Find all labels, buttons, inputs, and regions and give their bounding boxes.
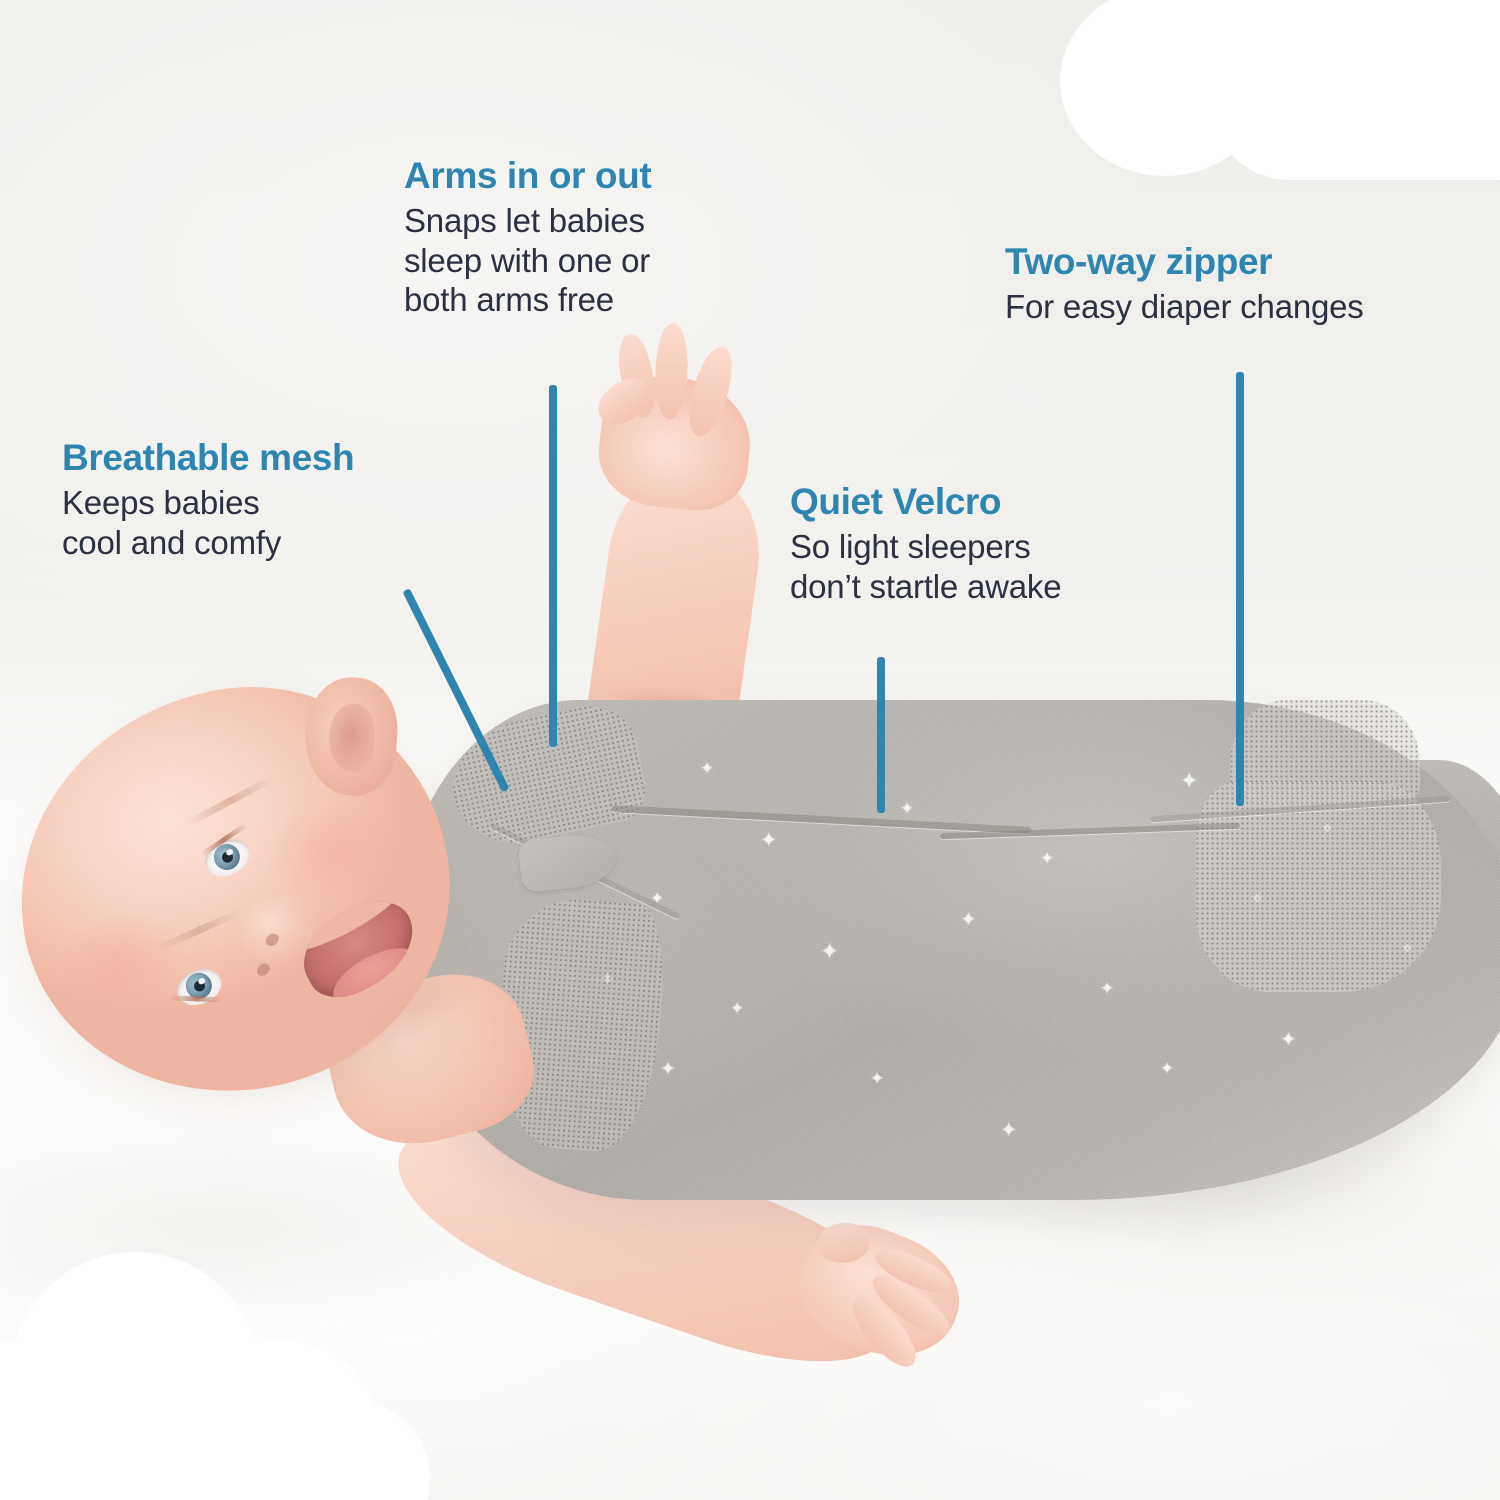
callout-title: Two-way zipper [1005,242,1500,281]
callout-title: Quiet Velcro [790,482,1190,521]
leader-two-way-zipper [1236,372,1244,806]
callout-body: For easy diaper changes [1005,287,1500,327]
callout-arms-in-or-out: Arms in or out Snaps let babies sleep wi… [404,156,764,320]
leader-arms-in-or-out [549,385,557,747]
cloud-bottom-left-icon [0,1240,430,1500]
cloud-top-right-icon [1060,0,1500,210]
eyebrow [185,774,277,827]
callout-body: So light sleepers don’t startle awake [790,527,1190,606]
callout-breathable-mesh: Breathable mesh Keeps babies cool and co… [62,438,492,562]
callout-body: Snaps let babies sleep with one or both … [404,201,764,320]
callout-two-way-zipper: Two-way zipper For easy diaper changes [1005,242,1500,327]
callout-title: Breathable mesh [62,438,492,477]
callout-title: Arms in or out [404,156,764,195]
callout-body: Keeps babies cool and comfy [62,483,492,562]
infographic-stage: ✦ ✦ ✦ ✦ ✦ ✦ ✦ ✦ ✦ ✦ ✦ ✦ ✦ ✦ ✦ ✦ ✦ ✦ ✦ ✦ [0,0,1500,1500]
leader-quiet-velcro [877,657,885,813]
eyelash [170,995,222,1002]
callout-quiet-velcro: Quiet Velcro So light sleepers don’t sta… [790,482,1190,606]
